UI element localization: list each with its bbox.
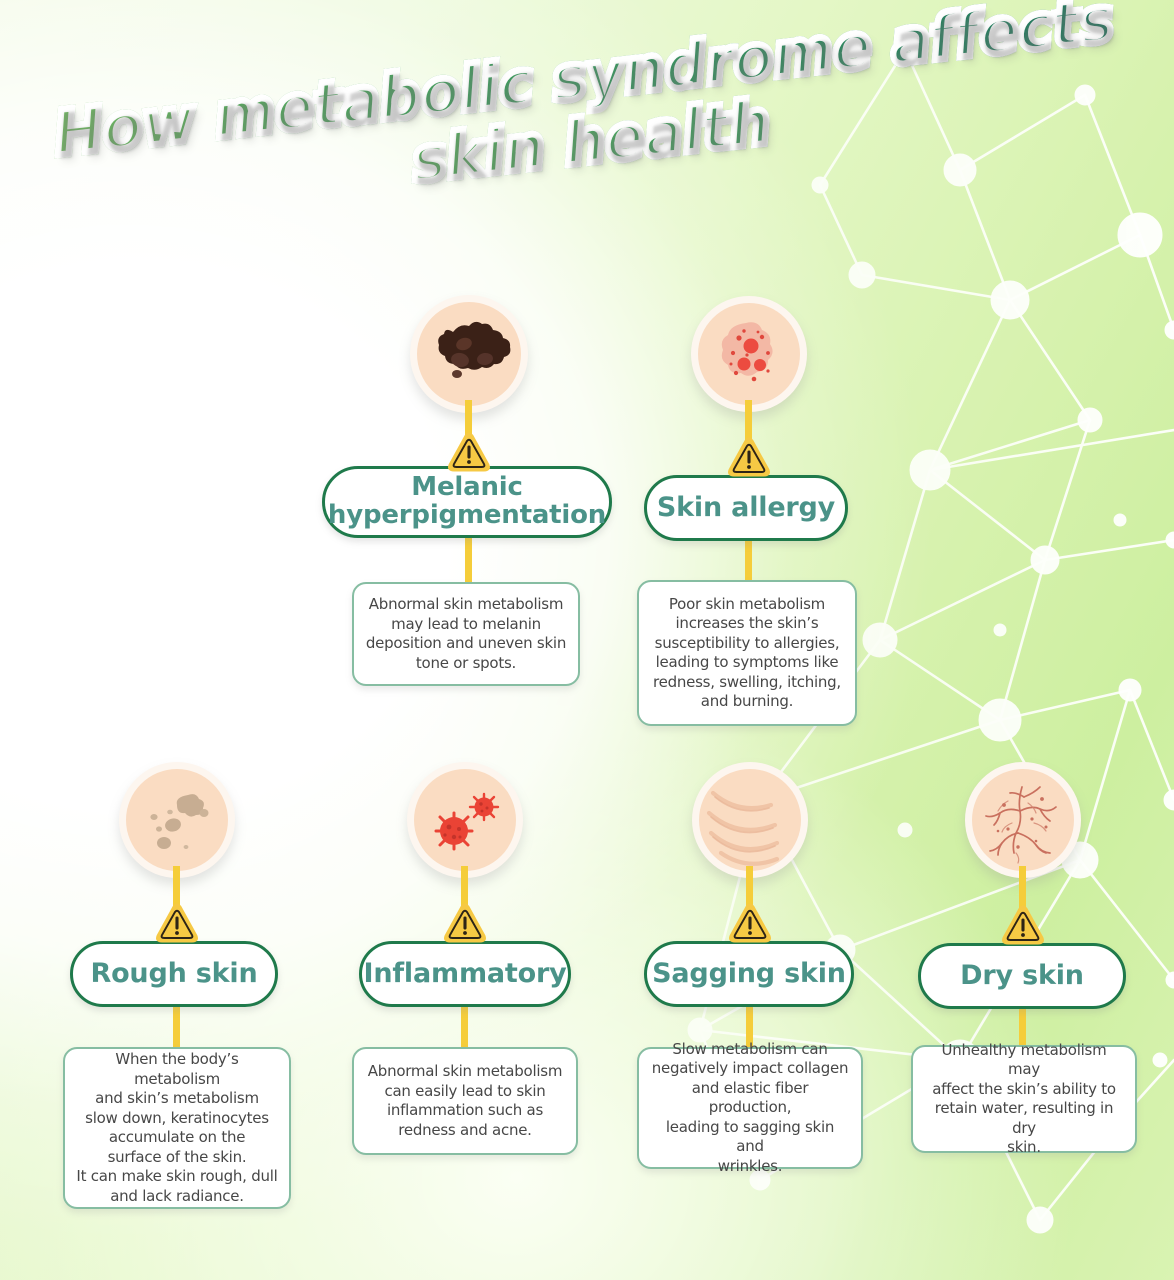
dry-skin-disc xyxy=(965,762,1081,878)
rough-patches-icon xyxy=(126,769,228,871)
pill-label: Sagging skin xyxy=(652,960,846,989)
warning-triangle-icon[interactable] xyxy=(154,903,200,945)
desc-text: Poor skin metabolism increases the skin’… xyxy=(653,595,841,712)
warning-triangle-icon[interactable] xyxy=(726,437,772,479)
warning-triangle-icon[interactable] xyxy=(442,903,488,945)
pill-skin-allergy[interactable]: Skin allergy xyxy=(644,475,848,541)
dry-cracks-icon xyxy=(972,769,1074,871)
desc-sagging-skin: Slow metabolism can negatively impact co… xyxy=(637,1047,863,1169)
desc-text: When the body’s metabolism and skin’s me… xyxy=(76,1050,278,1206)
warning-triangle-icon[interactable] xyxy=(446,432,492,474)
sagging-skin-disc xyxy=(692,762,808,878)
connector-stem-bottom xyxy=(461,1005,468,1050)
pill-label: Melanic hyperpigmentation xyxy=(325,474,609,529)
desc-inflammatory: Abnormal skin metabolism can easily lead… xyxy=(352,1047,578,1155)
pill-sagging-skin[interactable]: Sagging skin xyxy=(644,941,854,1007)
pill-rough-skin[interactable]: Rough skin xyxy=(70,941,278,1007)
connector-stem-bottom xyxy=(745,539,752,582)
desc-text: Slow metabolism can negatively impact co… xyxy=(650,1040,850,1177)
inflammation-microbe-icon xyxy=(414,769,516,871)
inflammatory-disc xyxy=(407,762,523,878)
desc-skin-allergy: Poor skin metabolism increases the skin’… xyxy=(637,580,857,726)
skin-allergy-disc xyxy=(691,296,807,412)
pill-label: Rough skin xyxy=(90,960,257,989)
desc-text: Abnormal skin metabolism may lead to mel… xyxy=(366,595,566,673)
pill-inflammatory[interactable]: Inflammatory xyxy=(359,941,571,1007)
melanic-hyperpigmentation-disc xyxy=(410,295,528,413)
desc-text: Unhealthy metabolism may affect the skin… xyxy=(924,1041,1124,1158)
warning-triangle-icon[interactable] xyxy=(727,903,773,945)
desc-text: Abnormal skin metabolism can easily lead… xyxy=(368,1062,562,1140)
warning-triangle-icon[interactable] xyxy=(1000,905,1046,947)
pill-label: Inflammatory xyxy=(364,960,567,989)
pill-label: Dry skin xyxy=(960,962,1084,991)
wrinkle-lines-icon xyxy=(699,769,801,871)
allergy-rash-icon xyxy=(698,303,800,405)
connector-stem-bottom xyxy=(173,1005,180,1050)
pill-dry-skin[interactable]: Dry skin xyxy=(918,943,1126,1009)
pill-melanic-hyperpigmentation[interactable]: Melanic hyperpigmentation xyxy=(322,466,612,538)
melanin-deposit-icon xyxy=(417,302,521,406)
desc-melanic-hyperpigmentation: Abnormal skin metabolism may lead to mel… xyxy=(352,582,580,686)
pill-label: Skin allergy xyxy=(657,494,835,523)
desc-dry-skin: Unhealthy metabolism may affect the skin… xyxy=(911,1045,1137,1153)
desc-rough-skin: When the body’s metabolism and skin’s me… xyxy=(63,1047,291,1209)
rough-skin-disc xyxy=(119,762,235,878)
connector-stem-bottom xyxy=(465,536,472,586)
